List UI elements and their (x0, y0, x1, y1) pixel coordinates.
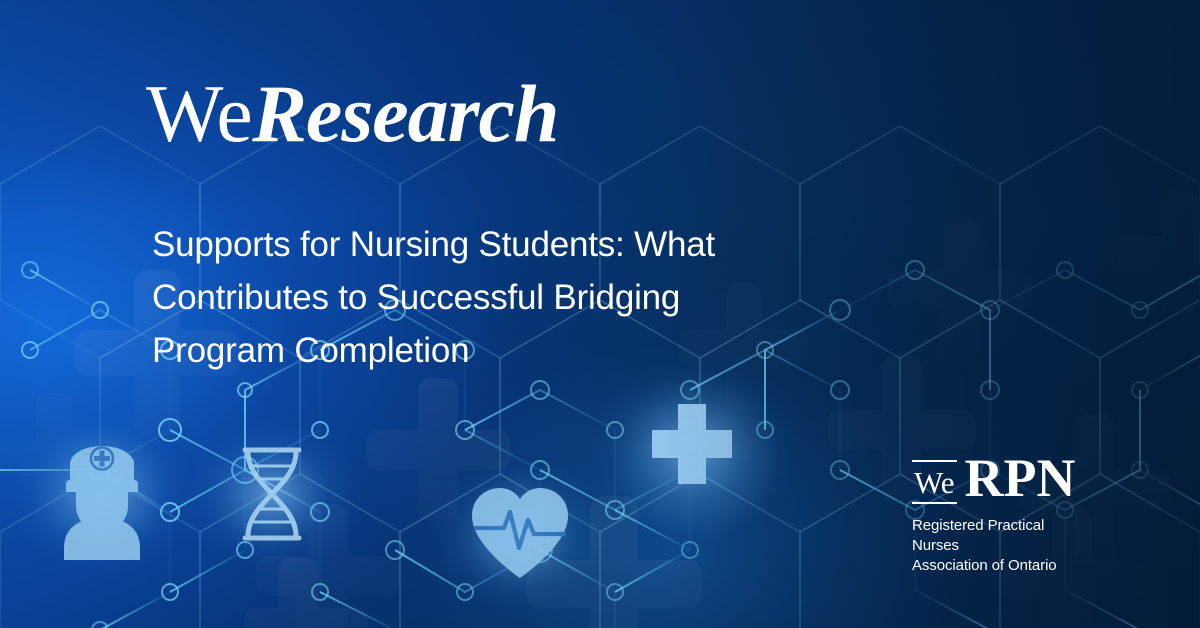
page-title-we: We (146, 68, 252, 159)
page-title: WeResearch (146, 72, 559, 156)
werpn-tagline-line-1: Registered Practical Nurses (912, 516, 1084, 556)
page-title-research: Research (252, 68, 558, 159)
werpn-logo[interactable]: We RPN Registered Practical Nurses Assoc… (912, 448, 1084, 575)
werpn-logo-tagline: Registered Practical Nurses Association … (912, 516, 1084, 575)
werpn-logo-rpn: RPN (965, 454, 1076, 504)
werpn-tagline-line-2: Association of Ontario (912, 556, 1084, 576)
banner-content: WeResearch Supports for Nursing Students… (0, 0, 1200, 628)
werpn-logo-mark: We RPN (912, 448, 1084, 504)
page-subtitle: Supports for Nursing Students: What Cont… (152, 218, 792, 378)
weresearch-banner: WeResearch Supports for Nursing Students… (0, 0, 1200, 628)
werpn-logo-we: We (912, 460, 957, 504)
